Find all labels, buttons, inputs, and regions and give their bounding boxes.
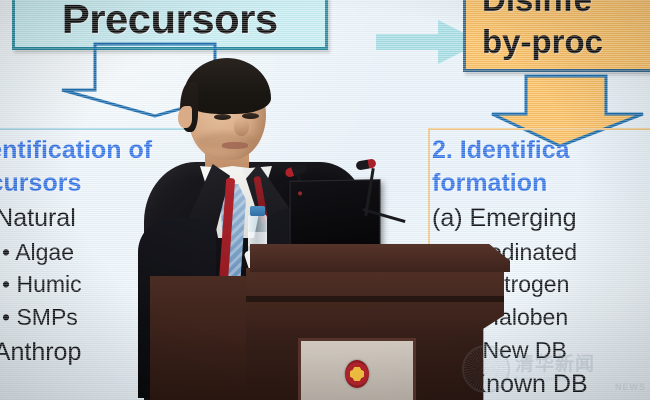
podium-top-surface	[250, 244, 510, 272]
slide-header-dbp-line2: by-proc	[482, 21, 650, 63]
slide-header-dbp-box: Disinfe by-proc	[463, 0, 650, 72]
slide-header-precursors-label: Precursors	[62, 0, 278, 43]
bullet-icon: •	[2, 304, 10, 330]
mouth	[222, 142, 248, 149]
bullet-icon: •	[2, 239, 10, 265]
bullet-icon: •	[2, 271, 10, 297]
institution-emblem-icon	[345, 360, 369, 388]
slide-header-dbp-line1: Disinfe	[482, 0, 650, 21]
right-heading-line1: 2. Identifica	[432, 134, 650, 167]
ear	[178, 106, 192, 128]
left-item-1-label: Algae	[15, 239, 74, 265]
screenshot-root: Precursors Disinfe by-proc Identificatio…	[0, 0, 650, 400]
podium-shadow-band	[246, 296, 504, 302]
laptop-indicator-light	[298, 191, 302, 195]
nose	[234, 118, 249, 136]
water-bottle-cap	[250, 206, 265, 216]
left-item-3-label: SMPs	[16, 304, 77, 330]
left-item-2-label: Humic	[16, 271, 81, 297]
right-item-0: (a) Emerging	[432, 202, 650, 236]
podium-side-panel	[150, 276, 260, 400]
right-item-4-label: New DB	[482, 337, 566, 363]
water-bottle-label	[248, 232, 267, 246]
right-heading-line2: formation	[432, 167, 650, 200]
eye-left	[214, 114, 231, 120]
